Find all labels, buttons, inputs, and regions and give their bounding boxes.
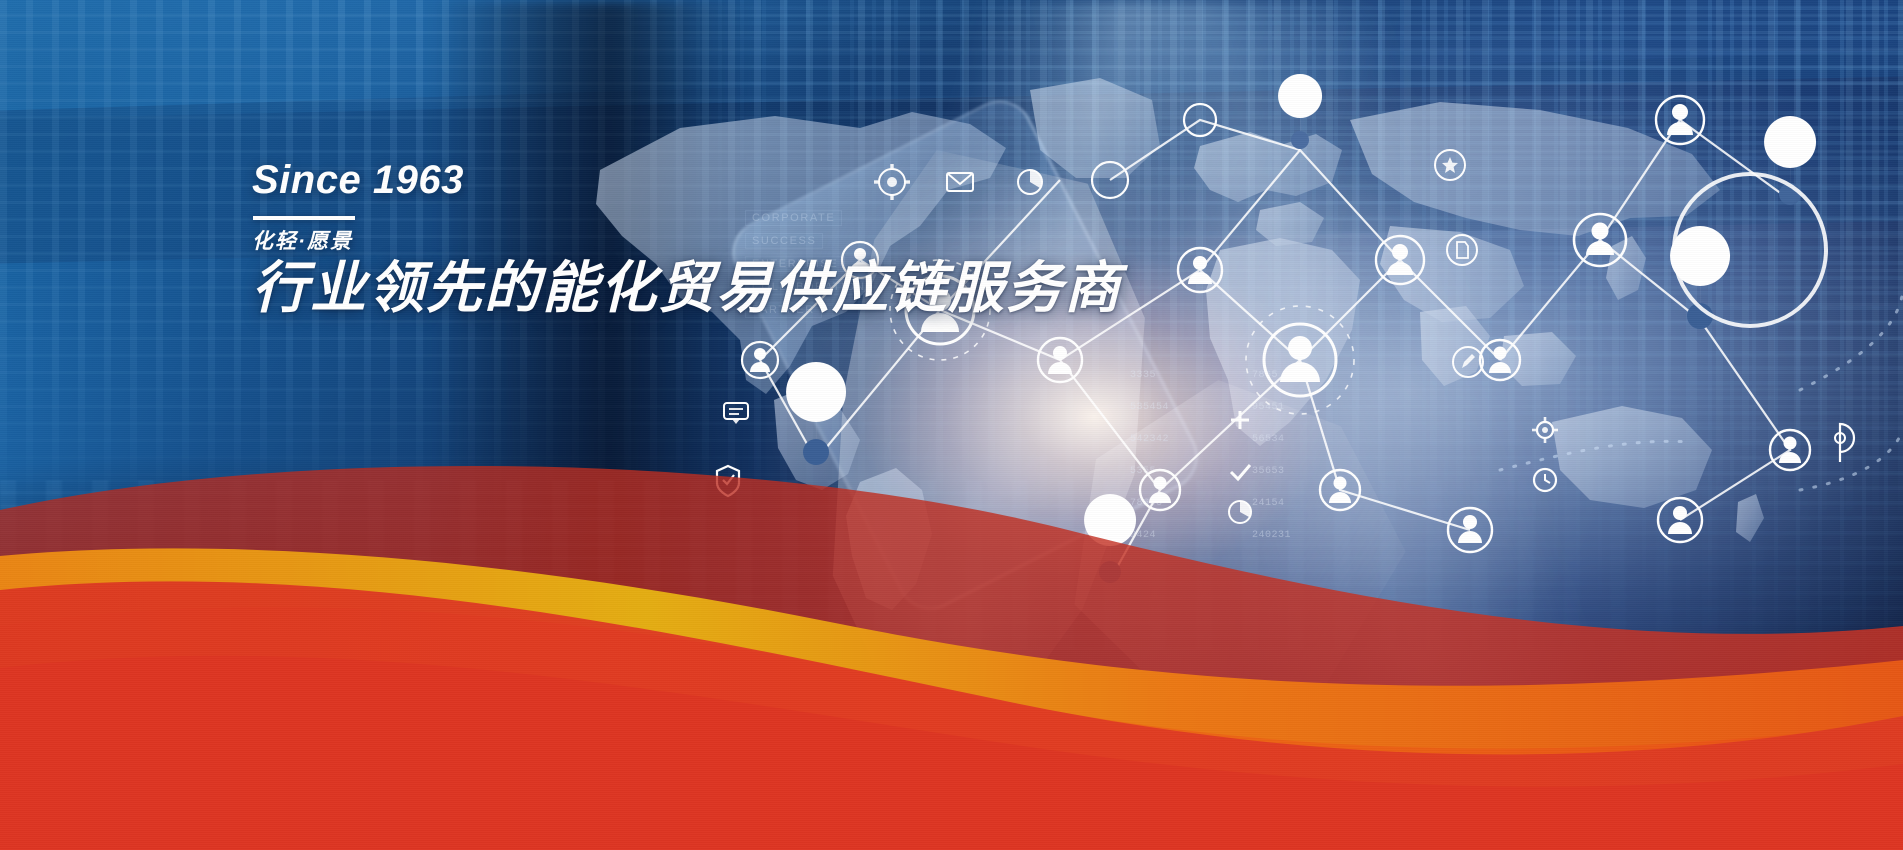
- title-divider-rule: [253, 216, 355, 220]
- star-icon: [1435, 150, 1465, 180]
- hero-banner: CORPORATE SUCCESS ENTERPRISE COLLABORATI…: [0, 0, 1903, 850]
- document-icon: [1447, 235, 1477, 265]
- hero-copy-block: Since 1963 化轻·愿景 行业领先的能化贸易供应链服务商: [252, 160, 1072, 360]
- gear-icon: [1532, 417, 1558, 443]
- eyebrow-since-label: Since 1963: [252, 160, 1072, 200]
- pencil-icon: [1453, 347, 1483, 377]
- page-title: 行业领先的能化贸易供应链服务商: [252, 258, 1072, 318]
- chat-icon: [724, 403, 748, 424]
- location-pin-icon: [1670, 226, 1730, 342]
- subtitle-vision: 化轻·愿景: [252, 230, 1072, 254]
- decorative-wave-ribbons: [0, 450, 1903, 850]
- plus-icon: [1231, 411, 1249, 429]
